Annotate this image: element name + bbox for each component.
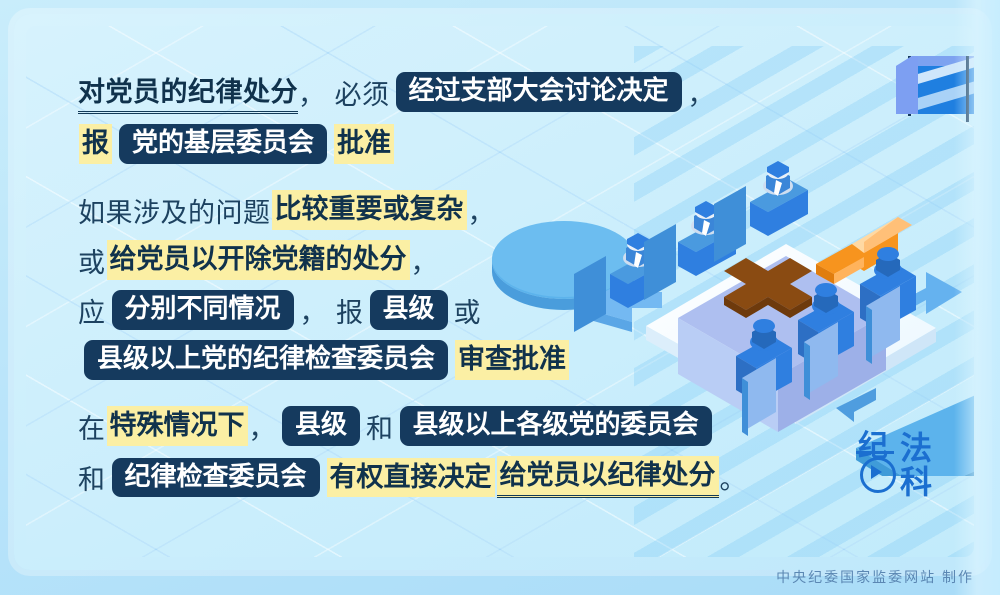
body-text: 和 [78, 458, 106, 497]
punctuation-text: ， [300, 291, 328, 330]
emphasis-pill: 分别不同情况 [112, 290, 294, 329]
inner-card: 对党员的纪律处分，必须经过支部大会讨论决定，报党的基层委员会批准如果涉及的问题比… [26, 26, 974, 557]
emphasis-pill: 县级以上各级党的委员会 [400, 406, 712, 445]
highlight-text: 比较重要或复杂 [272, 190, 467, 229]
highlight-text: 给党员以开除党籍的处分 [107, 240, 410, 279]
text-line: 或给党员以开除党籍的处分， [78, 240, 738, 280]
body-text: 报 [336, 291, 364, 330]
punctuation-text: ， [249, 407, 277, 446]
body-text: 在 [78, 407, 106, 446]
footer-credit: 中央纪委国家监委网站 制作 [776, 567, 974, 587]
text-line: 报党的基层委员会批准 [78, 124, 738, 164]
logo-char-ke: 科 [900, 457, 932, 503]
highlight-text: 有权直接决定 [327, 458, 495, 497]
highlight-text: 批准 [334, 124, 394, 163]
play-triangle-icon [871, 465, 882, 479]
body-text: 或 [78, 241, 106, 280]
body-text: 必须 [335, 73, 390, 112]
highlight-text: 审查批准 [455, 340, 569, 379]
statement-text-column: 对党员的纪律处分，必须经过支部大会讨论决定，报党的基层委员会批准如果涉及的问题比… [78, 70, 738, 524]
right-edge-highlight [954, 0, 1000, 595]
punctuation-text: ， [411, 241, 439, 280]
highlight-text-underlined: 给党员以纪律处分 [497, 456, 719, 498]
punctuation-text: ， [688, 73, 716, 112]
highlight-text: 报 [79, 124, 112, 163]
paragraph: 对党员的纪律处分，必须经过支部大会讨论决定，报党的基层委员会批准 [78, 70, 738, 164]
emphasis-pill: 县级 [282, 406, 360, 445]
emphasis-pill: 纪律检查委员会 [112, 458, 320, 497]
emphasis-pill: 县级以上党的纪律检查委员会 [84, 340, 448, 379]
body-text: 应 [78, 291, 106, 330]
text-line: 县级以上党的纪律检查委员会审查批准 [78, 340, 738, 380]
text-line: 对党员的纪律处分，必须经过支部大会讨论决定， [78, 70, 738, 114]
emphasis-pill: 党的基层委员会 [119, 124, 327, 163]
punctuation-text: ， [298, 73, 326, 112]
punctuation-text: ， [468, 191, 496, 230]
underlined-text: 对党员的纪律处分 [78, 70, 298, 114]
brand-logo: 纪 法 科 [856, 423, 948, 495]
body-text: 或 [454, 291, 482, 330]
text-line: 在特殊情况下，县级和县级以上各级党的委员会 [78, 406, 738, 446]
text-line: 和纪律检查委员会有权直接决定给党员以纪律处分。 [78, 456, 738, 498]
body-text: 和 [366, 407, 394, 446]
text-line: 应分别不同情况，报县级或 [78, 290, 738, 330]
paragraph: 如果涉及的问题比较重要或复杂，或给党员以开除党籍的处分，应分别不同情况，报县级或… [78, 190, 738, 380]
text-line: 如果涉及的问题比较重要或复杂， [78, 190, 738, 230]
highlight-text: 特殊情况下 [107, 406, 248, 445]
body-text: 如果涉及的问题 [78, 191, 271, 230]
emphasis-pill: 县级 [370, 290, 448, 329]
paragraph: 在特殊情况下，县级和县级以上各级党的委员会和纪律检查委员会有权直接决定给党员以纪… [78, 406, 738, 498]
punctuation-text: 。 [720, 458, 748, 497]
logo-underline [856, 451, 894, 454]
poster-root: 对党员的纪律处分，必须经过支部大会讨论决定，报党的基层委员会批准如果涉及的问题比… [0, 0, 1000, 595]
emphasis-pill: 经过支部大会讨论决定 [396, 72, 682, 111]
